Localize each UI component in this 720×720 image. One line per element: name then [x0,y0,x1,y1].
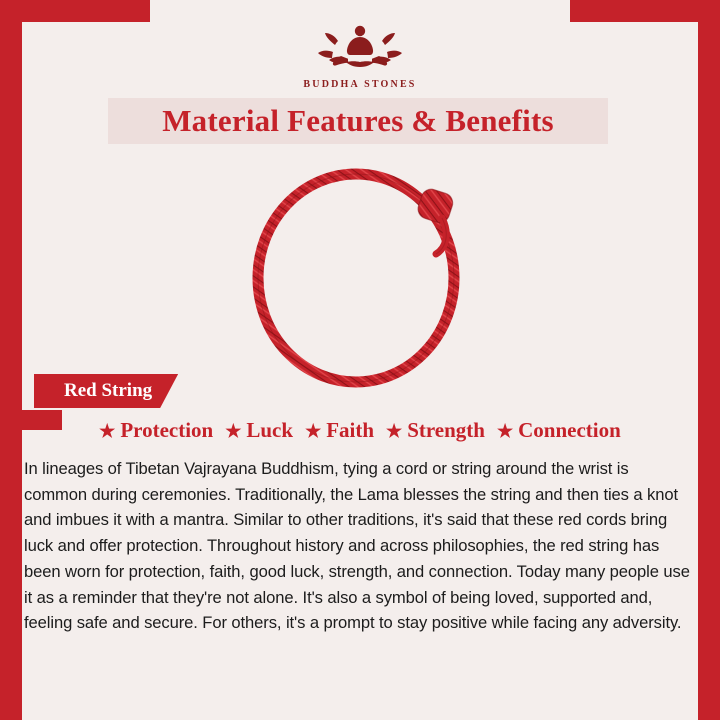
product-name: Red String [64,380,152,402]
star-icon: ★ [225,422,241,440]
page-title: Material Features & Benefits [162,103,554,139]
star-icon: ★ [386,422,402,440]
star-icon: ★ [99,422,115,440]
benefit-label: Strength [407,418,485,443]
benefit-label: Protection [120,418,213,443]
lotus-meditation-icon [300,18,420,78]
product-name-tag: Red String [34,374,178,408]
infographic-page: BUDDHA STONES Material Features & Benefi… [0,0,720,720]
red-braided-string-bracelet-icon [150,148,570,398]
benefit-label: Faith [326,418,374,443]
brand-logo: BUDDHA STONES [0,18,720,90]
benefit-keyword-strength: ★ Strength [380,418,491,443]
benefit-keyword-connection: ★ Connection [491,418,627,443]
star-icon: ★ [305,422,321,440]
benefit-keyword-row: ★ Protection ★ Luck ★ Faith ★ Strength ★… [22,418,698,443]
decor-frame-right [698,0,720,720]
benefit-keyword-faith: ★ Faith [299,418,380,443]
brand-name: BUDDHA STONES [0,79,720,90]
page-title-bar: Material Features & Benefits [108,98,608,144]
description-paragraph: In lineages of Tibetan Vajrayana Buddhis… [24,456,696,636]
decor-frame-left [0,150,22,720]
star-icon: ★ [497,422,513,440]
product-hero-image [22,148,698,410]
benefit-keyword-luck: ★ Luck [219,418,299,443]
benefit-keyword-protection: ★ Protection [93,418,219,443]
benefit-label: Luck [246,418,293,443]
benefit-label: Connection [518,418,621,443]
